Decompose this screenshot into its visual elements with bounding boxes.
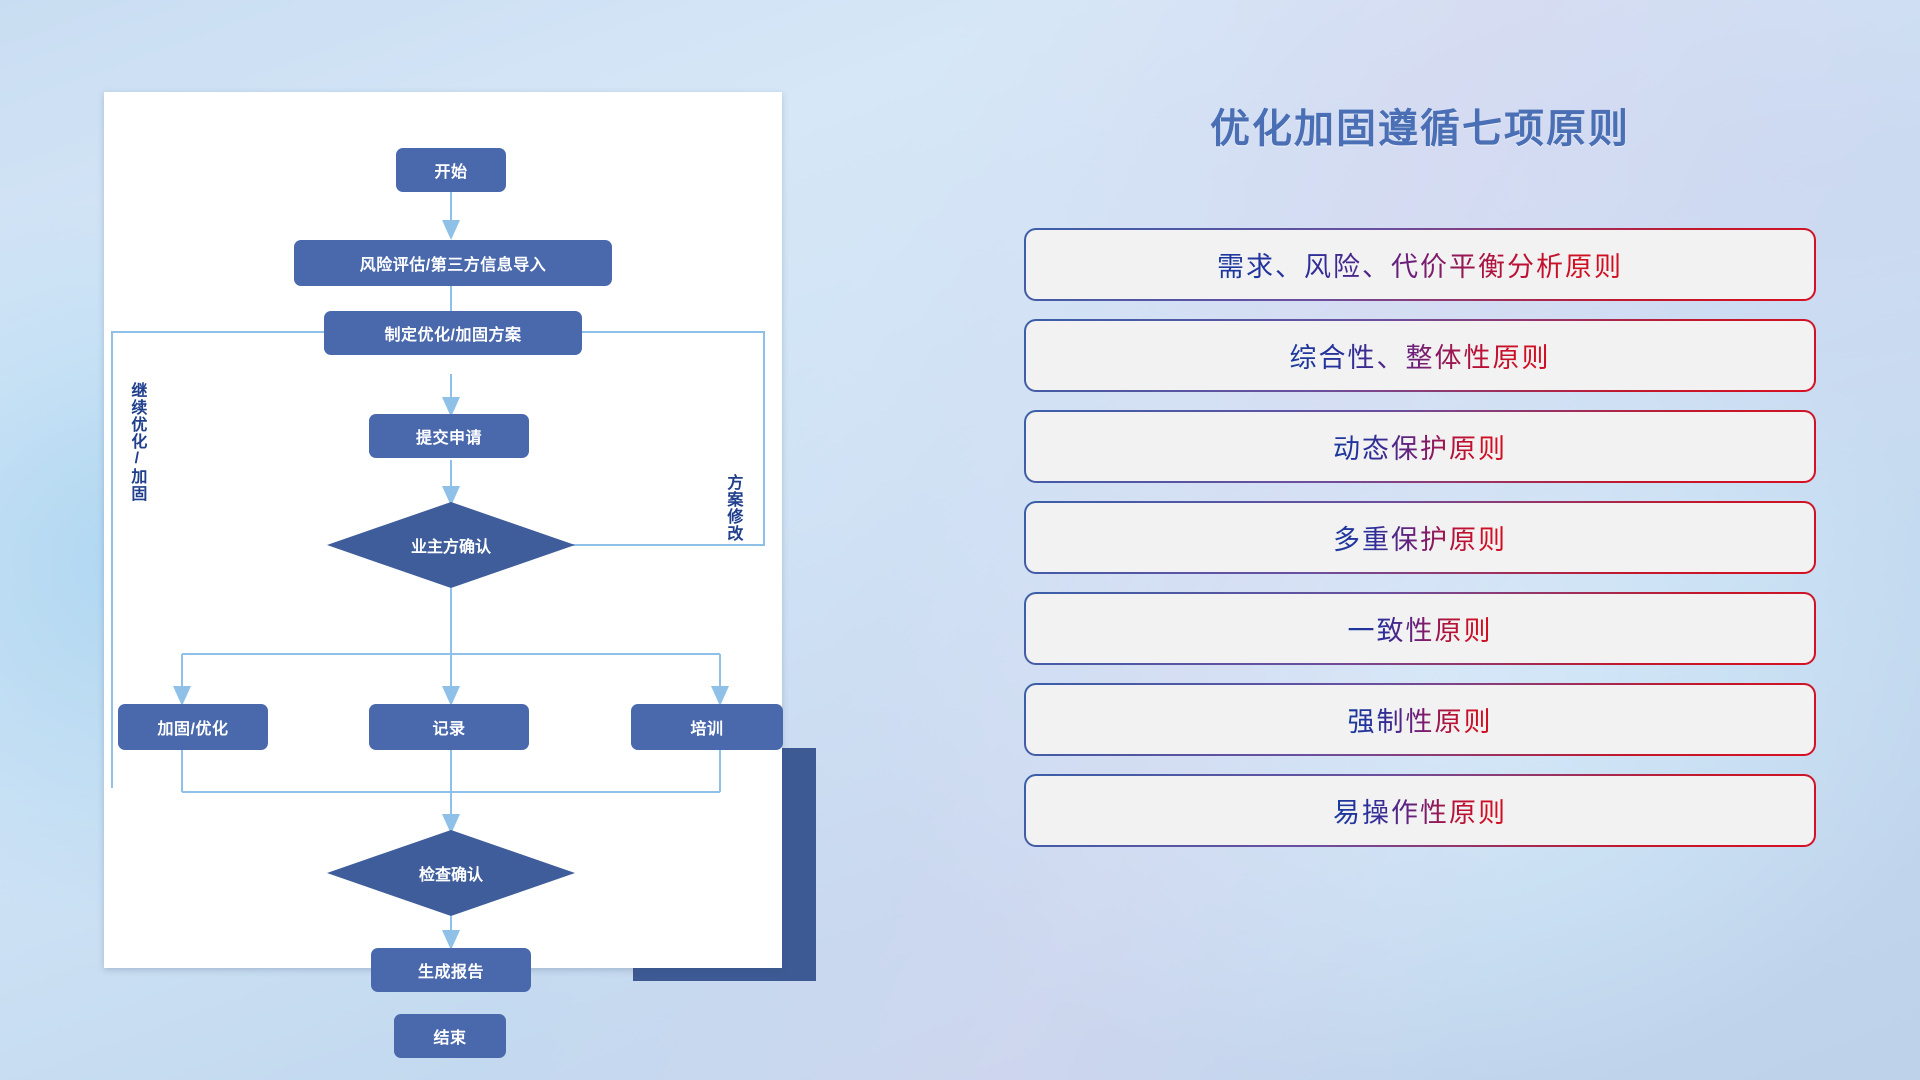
principle-item[interactable]: 易操作性原则 — [1024, 774, 1816, 847]
flow-node-generate-report[interactable]: 生成报告 — [371, 948, 531, 992]
flow-node-training[interactable]: 培训 — [631, 704, 783, 750]
flow-node-start[interactable]: 开始 — [396, 148, 506, 192]
principle-inner: 多重保护原则 — [1026, 503, 1814, 572]
flow-node-label: 开始 — [434, 158, 467, 182]
principle-label: 需求、风险、代价平衡分析原则 — [1217, 245, 1623, 284]
flow-decision-check-confirm[interactable]: 检查确认 — [327, 830, 575, 916]
principle-inner: 需求、风险、代价平衡分析原则 — [1026, 230, 1814, 299]
principle-label: 强制性原则 — [1348, 700, 1493, 739]
principle-inner: 综合性、整体性原则 — [1026, 321, 1814, 390]
principles-list: 需求、风险、代价平衡分析原则 综合性、整体性原则 动态保护原则 多重保护原则 一… — [1024, 228, 1816, 865]
principles-panel: 优化加固遵循七项原则 需求、风险、代价平衡分析原则 综合性、整体性原则 动态保护… — [1000, 96, 1840, 996]
principle-label: 一致性原则 — [1348, 609, 1493, 648]
flow-node-plan[interactable]: 制定优化/加固方案 — [324, 311, 582, 355]
principle-item[interactable]: 需求、风险、代价平衡分析原则 — [1024, 228, 1816, 301]
flowchart-card: 开始 风险评估/第三方信息导入 制定优化/加固方案 提交申请 业主方确认 加固/… — [104, 92, 782, 968]
panel-title: 优化加固遵循七项原则 — [1000, 96, 1840, 154]
flow-node-label: 培训 — [690, 715, 723, 739]
flow-decision-owner-confirm[interactable]: 业主方确认 — [327, 502, 575, 588]
edge-label-plan-revision: 方案修改 — [724, 474, 740, 594]
principle-label: 多重保护原则 — [1333, 518, 1507, 557]
principle-label: 动态保护原则 — [1333, 427, 1507, 466]
flow-node-label: 提交申请 — [416, 424, 482, 448]
flow-node-end[interactable]: 结束 — [394, 1014, 506, 1058]
principle-item[interactable]: 多重保护原则 — [1024, 501, 1816, 574]
principle-inner: 易操作性原则 — [1026, 776, 1814, 845]
principle-item[interactable]: 动态保护原则 — [1024, 410, 1816, 483]
flow-node-risk-assessment[interactable]: 风险评估/第三方信息导入 — [294, 240, 612, 286]
flow-node-label: 制定优化/加固方案 — [385, 321, 522, 345]
principle-inner: 动态保护原则 — [1026, 412, 1814, 481]
edge-label-continue-optimize: 继续优化/加固 — [128, 382, 144, 542]
flow-node-label: 记录 — [432, 715, 465, 739]
flow-node-label: 业主方确认 — [411, 533, 491, 557]
flow-node-record[interactable]: 记录 — [369, 704, 529, 750]
principle-item[interactable]: 强制性原则 — [1024, 683, 1816, 756]
principle-item[interactable]: 一致性原则 — [1024, 592, 1816, 665]
flow-node-submit-application[interactable]: 提交申请 — [369, 414, 529, 458]
principle-label: 易操作性原则 — [1333, 791, 1507, 830]
principle-item[interactable]: 综合性、整体性原则 — [1024, 319, 1816, 392]
flow-node-label: 加固/优化 — [158, 715, 229, 739]
flow-node-reinforce[interactable]: 加固/优化 — [118, 704, 268, 750]
flow-node-label: 风险评估/第三方信息导入 — [360, 251, 546, 275]
principle-inner: 一致性原则 — [1026, 594, 1814, 663]
principle-inner: 强制性原则 — [1026, 685, 1814, 754]
flow-node-label: 结束 — [433, 1024, 466, 1048]
flow-node-label: 检查确认 — [419, 861, 483, 885]
flow-node-label: 生成报告 — [418, 958, 484, 982]
principle-label: 综合性、整体性原则 — [1290, 336, 1551, 375]
